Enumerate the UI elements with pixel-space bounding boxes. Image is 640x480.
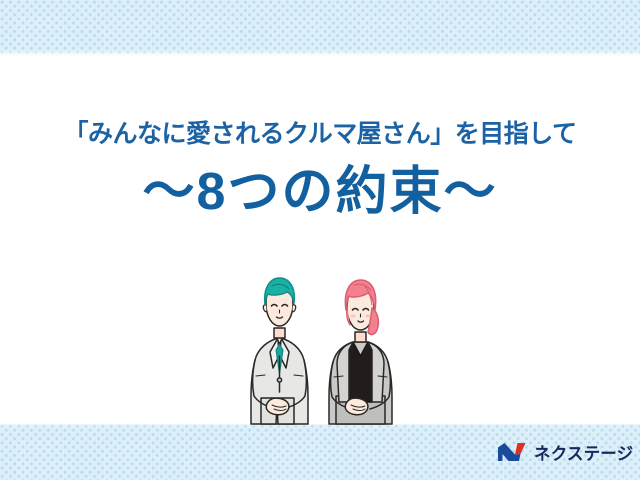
nextage-n-mark (497, 441, 527, 463)
top-dotted-band (0, 0, 640, 56)
slide-subtitle: 「みんなに愛されるクルマ屋さん」を目指して (0, 118, 640, 150)
headline-text-block: 「みんなに愛されるクルマ屋さん」を目指して 〜8つの約束〜 (0, 118, 640, 222)
slide-headline: 〜8つの約束〜 (0, 162, 640, 222)
nextage-logo: ネクステージ (497, 437, 633, 467)
nextage-logo-wordmark: ネクステージ (534, 440, 633, 465)
slide-canvas: 「みんなに愛されるクルマ屋さん」を目指して 〜8つの約束〜 (0, 0, 640, 480)
staff-illustration (232, 272, 422, 428)
female-staff-figure (329, 280, 392, 424)
male-staff-figure (251, 278, 308, 424)
